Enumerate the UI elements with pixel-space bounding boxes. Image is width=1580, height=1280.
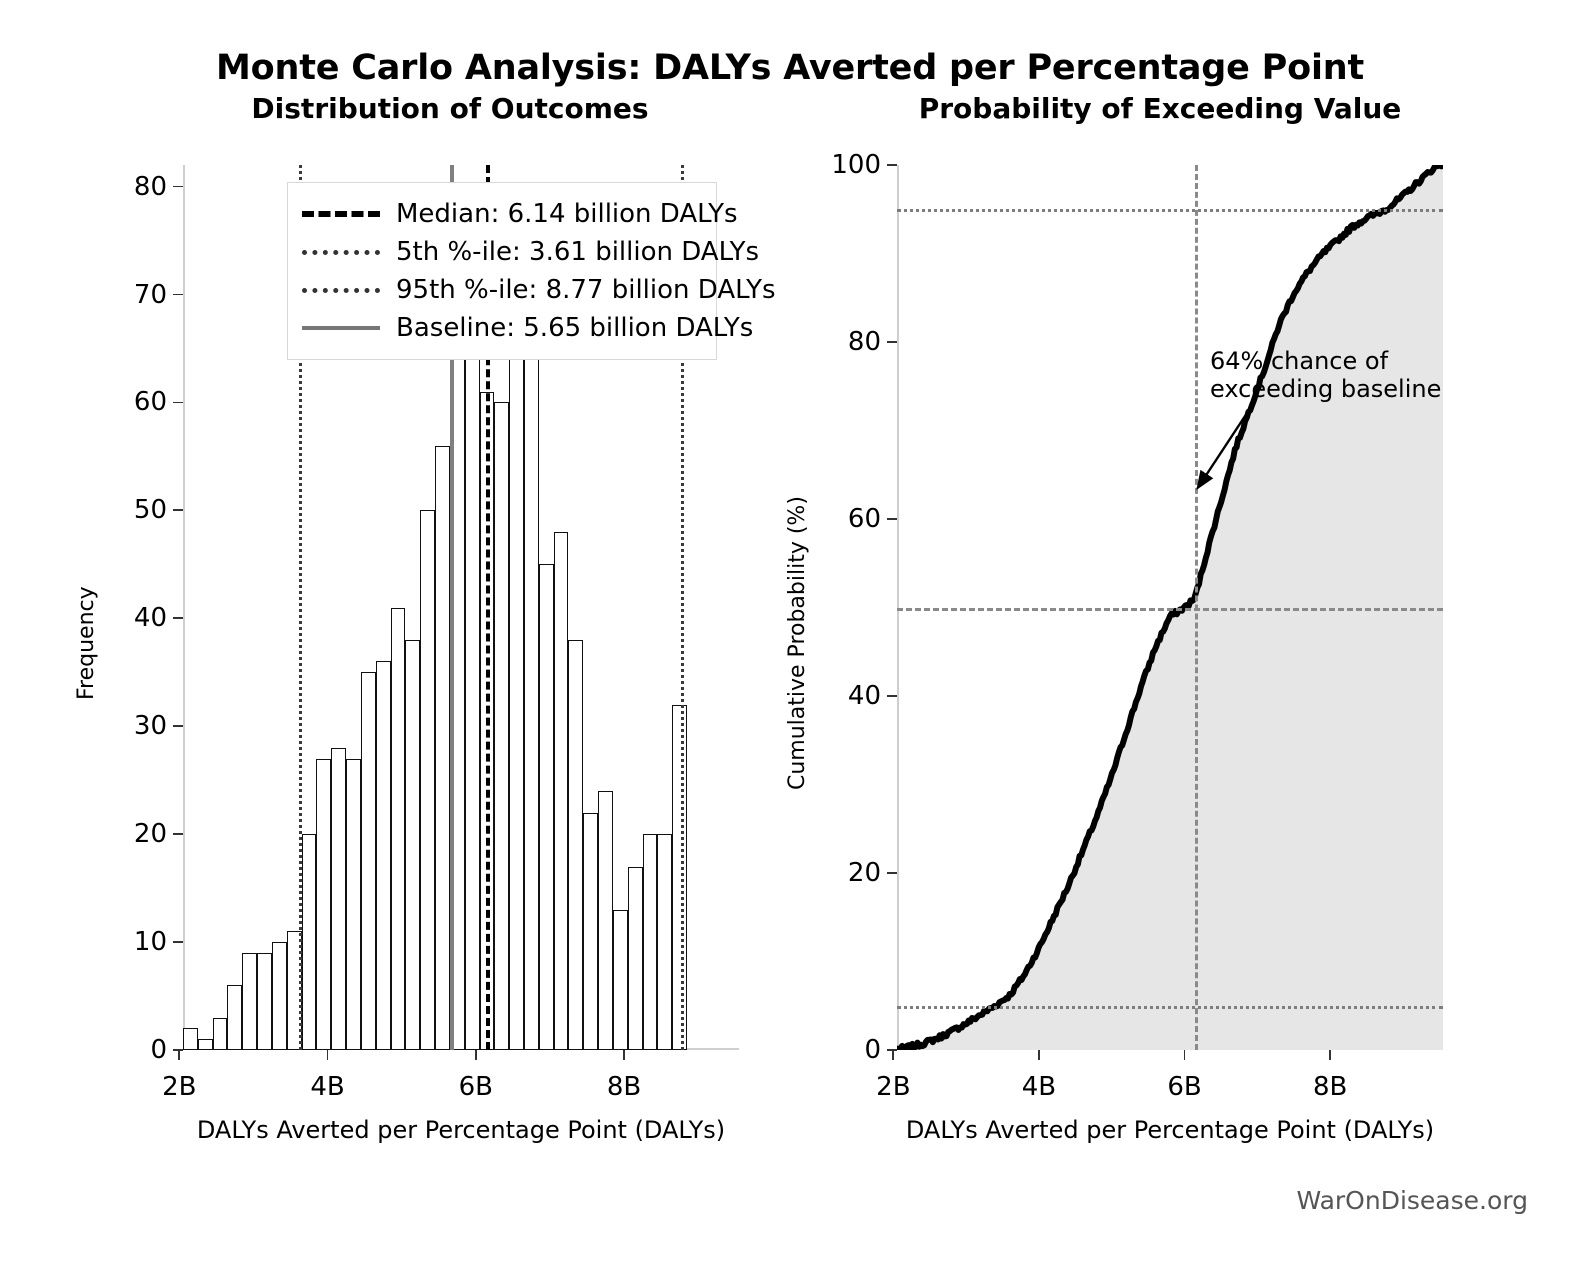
- legend-row: Baseline: 5.65 billion DALYs: [302, 309, 700, 347]
- legend-row: Median: 6.14 billion DALYs: [302, 195, 700, 233]
- histogram-bar: [494, 402, 509, 1050]
- footer-credit: WarOnDisease.org: [1296, 1186, 1528, 1215]
- y-tick-label: 10: [134, 927, 167, 957]
- x-tick: [327, 1050, 329, 1060]
- y-tick-label: 0: [150, 1035, 167, 1065]
- p5-line-icon: [302, 250, 380, 255]
- x-tick-label: 4B: [310, 1072, 344, 1102]
- y-tick-label: 60: [848, 504, 881, 534]
- histogram-bar: [539, 564, 554, 1050]
- histogram-bar: [554, 532, 569, 1050]
- histogram-bar: [242, 953, 257, 1050]
- legend-row: 5th %-ile: 3.61 billion DALYs: [302, 233, 700, 271]
- figure-suptitle: Monte Carlo Analysis: DALYs Averted per …: [0, 48, 1580, 88]
- y-tick-label: 40: [134, 603, 167, 633]
- y-tick: [887, 872, 897, 874]
- legend-label: 5th %-ile: 3.61 billion DALYs: [396, 237, 759, 267]
- histogram-bar: [405, 640, 420, 1050]
- left-axis-spine: [183, 165, 185, 1050]
- y-tick: [887, 341, 897, 343]
- y-tick-label: 20: [134, 819, 167, 849]
- histogram-bar: [583, 813, 598, 1050]
- histogram-legend: Median: 6.14 billion DALYs 5th %-ile: 3.…: [287, 182, 717, 360]
- histogram-bar: [435, 446, 450, 1050]
- x-tick: [475, 1050, 477, 1060]
- histogram-bar: [346, 759, 361, 1050]
- baseline-line-icon: [302, 326, 380, 330]
- y-tick: [173, 186, 183, 188]
- legend-label: Baseline: 5.65 billion DALYs: [396, 313, 753, 343]
- y-tick: [173, 617, 183, 619]
- figure: Monte Carlo Analysis: DALYs Averted per …: [0, 0, 1580, 1280]
- x-tick-label: 6B: [1167, 1072, 1201, 1102]
- left-panel-title: Distribution of Outcomes: [120, 92, 780, 125]
- histogram-bar: [420, 510, 435, 1050]
- histogram-bar: [568, 640, 583, 1050]
- y-tick: [887, 695, 897, 697]
- y-tick: [887, 164, 897, 166]
- y-axis-label-right: Cumulative Probability (%): [785, 496, 810, 790]
- x-tick-label: 2B: [876, 1072, 910, 1102]
- legend-row: 95th %-ile: 8.77 billion DALYs: [302, 271, 700, 309]
- y-tick-label: 70: [134, 280, 167, 310]
- x-tick-label: 6B: [459, 1072, 493, 1102]
- y-tick-label: 80: [848, 327, 881, 357]
- p95-line-icon: [302, 288, 380, 293]
- y-tick: [173, 941, 183, 943]
- y-tick: [173, 294, 183, 296]
- y-tick-label: 60: [134, 387, 167, 417]
- histogram-bar: [613, 910, 628, 1050]
- histogram-bar: [302, 834, 317, 1050]
- histogram-bar: [628, 867, 643, 1050]
- cdf-axes: 020406080100 2B4B6B8B DALYs Averted per …: [897, 165, 1443, 1050]
- histogram-bar: [227, 985, 242, 1050]
- y-tick: [173, 833, 183, 835]
- histogram-bar: [391, 608, 406, 1051]
- histogram-bar: [361, 672, 376, 1050]
- x-axis-label-right: DALYs Averted per Percentage Point (DALY…: [897, 1116, 1443, 1144]
- x-tick: [892, 1050, 894, 1060]
- histogram-bar: [465, 327, 480, 1050]
- y-tick-label: 100: [831, 150, 881, 180]
- histogram-bar: [272, 942, 287, 1050]
- x-tick-label: 2B: [162, 1072, 196, 1102]
- y-tick: [173, 402, 183, 404]
- y-tick-label: 0: [864, 1035, 881, 1065]
- right-panel-title: Probability of Exceeding Value: [830, 92, 1490, 125]
- histogram-bar: [509, 348, 524, 1050]
- median-line-icon: [302, 211, 380, 217]
- histogram-bar: [213, 1018, 228, 1050]
- histogram-bar: [657, 834, 672, 1050]
- y-tick-label: 50: [134, 495, 167, 525]
- histogram-bar: [183, 1028, 198, 1050]
- x-tick: [623, 1050, 625, 1060]
- y-tick: [173, 509, 183, 511]
- histogram-bar: [316, 759, 331, 1050]
- y-tick-label: 20: [848, 858, 881, 888]
- y-axis-label-left: Frequency: [74, 586, 99, 700]
- histogram-bar: [257, 953, 272, 1050]
- histogram-bar: [524, 348, 539, 1050]
- legend-label: Median: 6.14 billion DALYs: [396, 199, 738, 229]
- x-axis-label-left: DALYs Averted per Percentage Point (DALY…: [183, 1116, 739, 1144]
- x-tick-label: 8B: [607, 1072, 641, 1102]
- x-tick: [1329, 1050, 1331, 1060]
- histogram-bar: [598, 791, 613, 1050]
- y-tick: [173, 725, 183, 727]
- x-tick: [178, 1050, 180, 1060]
- annotation-arrow: [897, 165, 1443, 1050]
- y-tick-label: 40: [848, 681, 881, 711]
- cdf-annotation-text: 64% chance of exceeding baseline: [1210, 348, 1441, 403]
- x-tick: [1184, 1050, 1186, 1060]
- histogram-bar: [198, 1039, 213, 1050]
- y-tick-label: 80: [134, 172, 167, 202]
- histogram-bar: [331, 748, 346, 1050]
- x-tick-label: 4B: [1022, 1072, 1056, 1102]
- x-tick: [1038, 1050, 1040, 1060]
- y-tick: [887, 518, 897, 520]
- histogram-bar: [672, 705, 687, 1050]
- x-tick-label: 8B: [1313, 1072, 1347, 1102]
- legend-label: 95th %-ile: 8.77 billion DALYs: [396, 275, 776, 305]
- histogram-bar: [643, 834, 658, 1050]
- y-tick-label: 30: [134, 711, 167, 741]
- histogram-bar: [376, 661, 391, 1050]
